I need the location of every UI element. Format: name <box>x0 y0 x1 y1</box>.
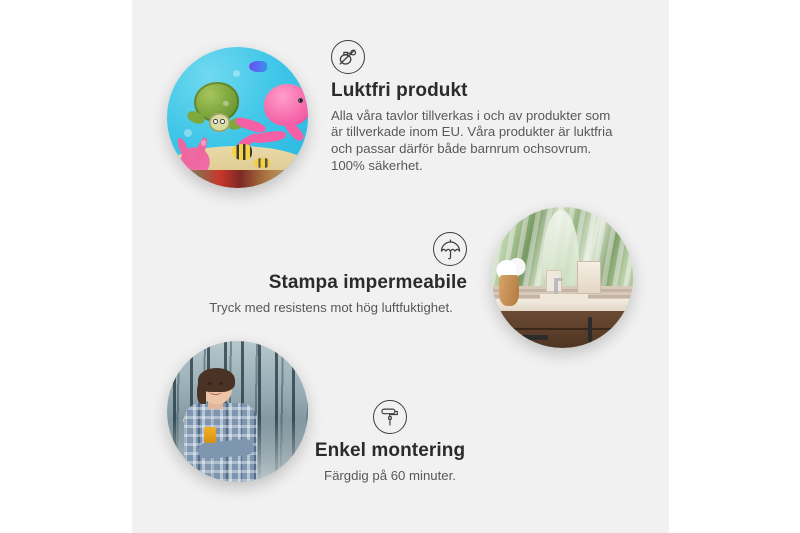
drawer-seam <box>500 328 633 330</box>
feature-block-easy-install: Enkel montering Färgdig på 60 minuter. <box>300 400 480 484</box>
octopus-head <box>264 84 308 126</box>
paint-roller-glyph <box>379 406 401 428</box>
product-image-bathroom <box>492 207 633 348</box>
product-feature-panel: Luktfri produkt Alla våra tavlor tillver… <box>0 0 800 533</box>
decor-frame <box>577 261 602 294</box>
feature-icon-wrap <box>300 400 480 434</box>
feature-body: Färgdig på 60 minuter. <box>300 468 480 485</box>
feature-body: Tryck med resistens mot hög luftfuktighe… <box>195 300 467 317</box>
no-odour-spray-bottle-glyph <box>336 45 360 69</box>
feature-icon-wrap <box>331 40 621 74</box>
foreground-strip <box>167 170 308 188</box>
paint-roller-icon <box>373 400 407 434</box>
vase <box>499 275 519 306</box>
pink-coral <box>174 130 216 169</box>
umbrella-icon <box>433 232 467 266</box>
umbrella-glyph <box>439 238 462 261</box>
striped-fish-icon <box>254 158 270 168</box>
bubble-icon <box>233 70 240 77</box>
feature-icon-wrap <box>195 232 467 266</box>
feature-title: Luktfri produkt <box>331 80 621 103</box>
bubble-icon <box>201 140 207 146</box>
masking-tape <box>204 427 217 443</box>
product-image-underwater <box>167 47 308 188</box>
striped-fish-icon <box>232 144 252 160</box>
drawer-handle <box>517 335 548 339</box>
feature-body: Alla våra tavlor tillverkas i och av pro… <box>331 108 621 174</box>
sink-basin <box>540 294 588 304</box>
no-odour-spray-bottle-icon <box>331 40 365 74</box>
octopus-eye <box>298 98 303 103</box>
cabinet-handle <box>588 317 592 342</box>
person-eye <box>208 382 212 385</box>
feature-block-waterproof: Stampa impermeabile Tryck med resistens … <box>195 232 467 316</box>
product-image-installer <box>167 341 308 482</box>
feature-title: Stampa impermeabile <box>195 272 467 295</box>
person-smile <box>209 388 222 395</box>
person-eye <box>219 382 223 385</box>
feature-title: Enkel montering <box>300 440 480 463</box>
blue-fish-icon <box>249 61 267 72</box>
feature-block-odourless: Luktfri produkt Alla våra tavlor tillver… <box>331 40 621 174</box>
wooden-cabinet <box>500 311 633 348</box>
turtle-head <box>209 113 230 131</box>
